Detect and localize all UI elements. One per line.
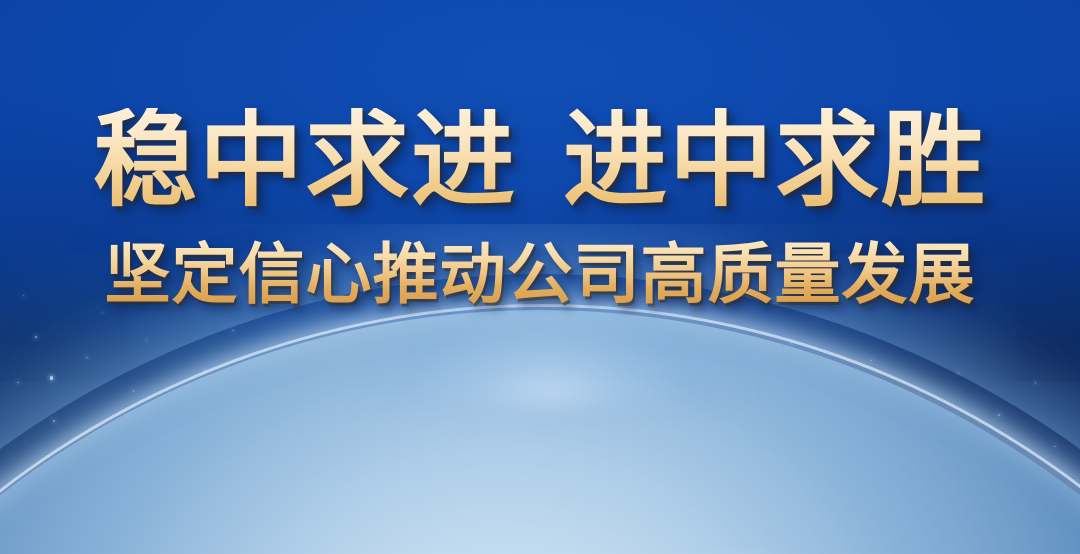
atmosphere-rim	[0, 304, 1080, 554]
promotional-banner: 稳中求进进中求胜 坚定信心推动公司高质量发展	[0, 0, 1080, 554]
headline-part-1: 稳中求进	[93, 103, 517, 219]
headline: 稳中求进进中求胜	[0, 108, 1080, 214]
subheadline: 坚定信心推动公司高质量发展	[0, 240, 1080, 309]
headline-part-2: 进中求胜	[563, 103, 987, 219]
banner-text-block: 稳中求进进中求胜 坚定信心推动公司高质量发展	[0, 108, 1080, 309]
